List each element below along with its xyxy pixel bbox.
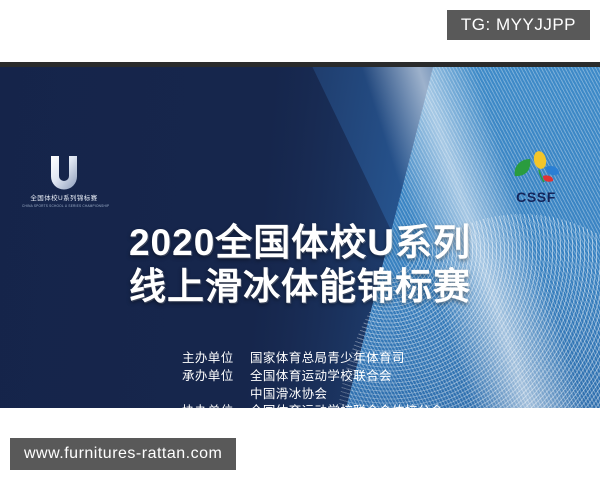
telegram-watermark-text: TG: MYYJJPP [461, 15, 576, 35]
organizer-row: 协办单位 全国体育运动学校联合会体校分会 中奥青体体育发展（北京）有限公司 [182, 403, 456, 408]
telegram-watermark-badge: TG: MYYJJPP [447, 10, 590, 40]
organizer-list: 主办单位 国家体育总局青少年体育司 承办单位 全国体育运动学校联合会 中国滑冰协… [182, 350, 456, 408]
u-series-logo: 全国体校U系列锦标赛 CHINA SPORTS SCHOOL U SERIES … [22, 152, 106, 208]
event-banner: 全国体校U系列锦标赛 CHINA SPORTS SCHOOL U SERIES … [0, 62, 600, 408]
letter-u-icon [44, 152, 84, 192]
u-series-logo-en-text: CHINA SPORTS SCHOOL U SERIES CHAMPIONSHI… [22, 204, 106, 208]
site-watermark-badge: www.furnitures-rattan.com [10, 438, 236, 470]
organizer-value: 国家体育总局青少年体育司 [250, 350, 405, 368]
organizer-value: 中国滑冰协会 [250, 386, 392, 404]
organizer-values: 国家体育总局青少年体育司 [250, 350, 405, 368]
organizer-value: 全国体育运动学校联合会体校分会 [250, 403, 456, 408]
banner-top-strip [0, 62, 600, 67]
organizer-value: 全国体育运动学校联合会 [250, 368, 392, 386]
cssf-leaves-icon [509, 150, 563, 188]
organizer-label: 协办单位 [182, 403, 242, 408]
site-watermark-text: www.furnitures-rattan.com [24, 445, 222, 463]
organizer-row: 承办单位 全国体育运动学校联合会 中国滑冰协会 [182, 368, 456, 404]
organizer-values: 全国体育运动学校联合会体校分会 中奥青体体育发展（北京）有限公司 [250, 403, 456, 408]
organizer-label: 承办单位 [182, 368, 242, 386]
cssf-logo-text: CSSF [502, 189, 570, 205]
organizer-label: 主办单位 [182, 350, 242, 368]
banner-title-block: 2020全国体校U系列 线上滑冰体能锦标赛 [0, 222, 600, 308]
banner-title-line-1: 2020全国体校U系列 [0, 222, 600, 264]
u-series-logo-cn-text: 全国体校U系列锦标赛 [22, 195, 106, 203]
organizer-row: 主办单位 国家体育总局青少年体育司 [182, 350, 456, 368]
banner-title-line-2: 线上滑冰体能锦标赛 [0, 266, 600, 308]
cssf-logo: CSSF [502, 150, 570, 205]
organizer-values: 全国体育运动学校联合会 中国滑冰协会 [250, 368, 392, 404]
